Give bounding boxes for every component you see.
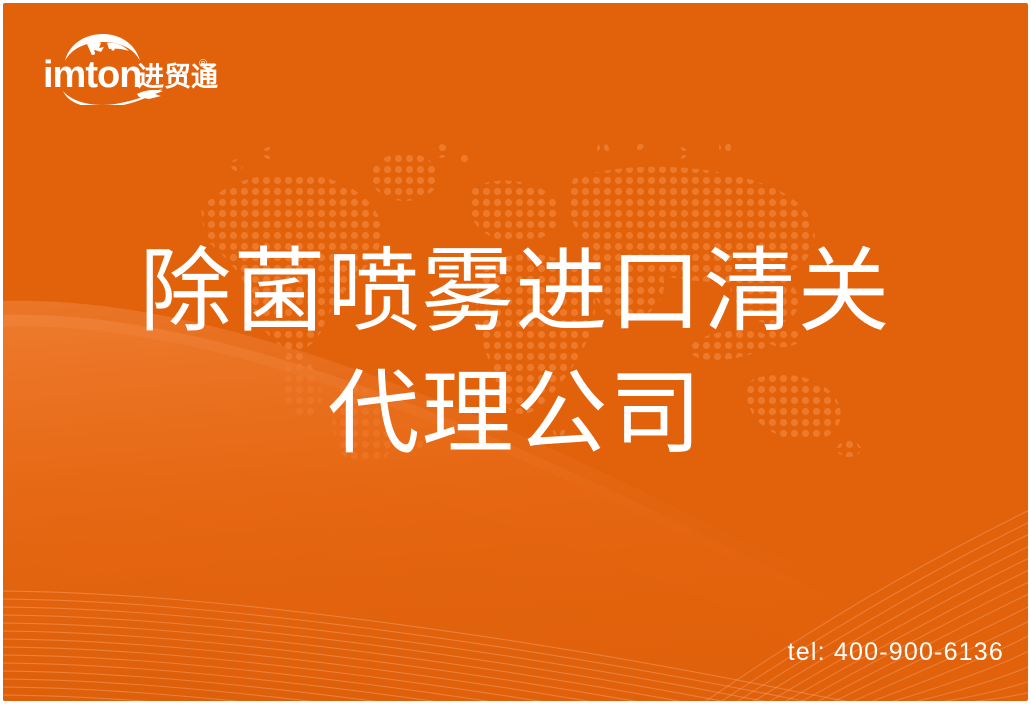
- logo-trademark-symbol: ®: [199, 58, 207, 70]
- promotional-banner: imton 进贸通 ® 除菌喷雾进口清关 代理公司 tel: 400-900-6…: [0, 0, 1031, 704]
- page-title: 除菌喷雾进口清关 代理公司: [3, 231, 1028, 476]
- headline-line-1: 除菌喷雾进口清关: [3, 231, 1028, 353]
- imton-logo[interactable]: imton 进贸通 ®: [41, 31, 221, 105]
- contact-phone[interactable]: tel: 400-900-6136: [788, 638, 1004, 667]
- headline-line-2: 代理公司: [3, 353, 1028, 475]
- logo-wordmark: imton: [43, 54, 141, 96]
